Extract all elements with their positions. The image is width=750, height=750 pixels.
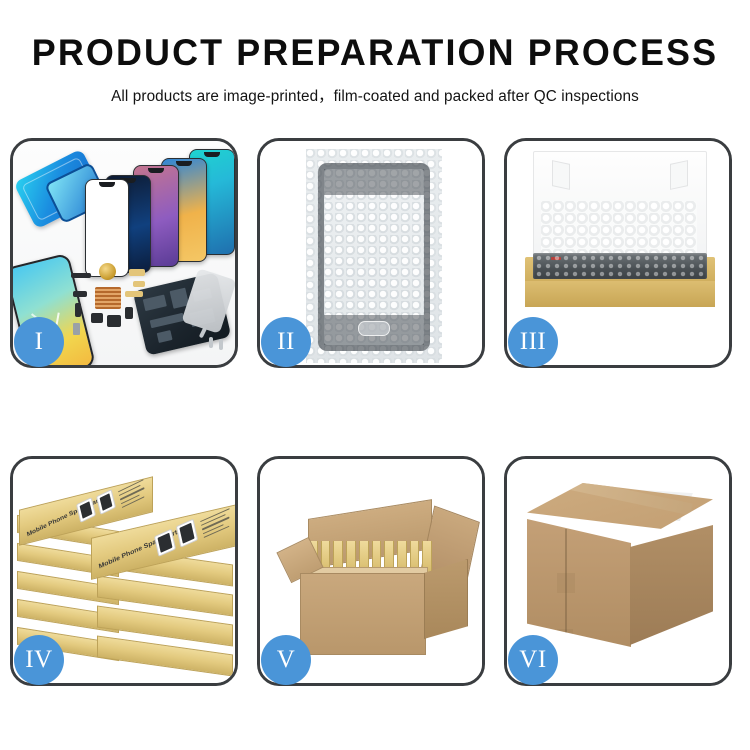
flex-cable-icon xyxy=(129,269,145,276)
step-panel-5: V xyxy=(257,456,485,686)
box-spec-lines xyxy=(200,507,235,540)
step-badge-6: VI xyxy=(508,635,558,685)
phone-display-fan xyxy=(85,149,235,269)
speaker-coil-icon xyxy=(99,263,116,280)
step-badge-2: II xyxy=(261,317,311,367)
lid-flap-right xyxy=(670,160,688,190)
label-sticker-icon xyxy=(551,257,561,260)
header: PRODUCT PREPARATION PROCESS All products… xyxy=(0,0,750,106)
step-badge-1: I xyxy=(14,317,64,367)
connector-bar-icon xyxy=(71,273,91,278)
page-title: PRODUCT PREPARATION PROCESS xyxy=(11,0,739,73)
screw-icon xyxy=(209,337,213,348)
screen-top-bezel xyxy=(324,169,424,195)
screw-icon xyxy=(219,339,223,350)
step-badge-3: III xyxy=(508,317,558,367)
flex-cable-small-icon xyxy=(133,281,145,287)
packing-tape-icon xyxy=(553,475,692,516)
box-art-screen xyxy=(96,489,116,515)
open-carton xyxy=(278,495,468,655)
step-panel-6: VI xyxy=(504,456,732,686)
wrapped-screen-icon xyxy=(318,163,430,351)
sealed-carton xyxy=(527,483,713,659)
home-button-icon xyxy=(358,321,390,336)
spare-parts-cluster xyxy=(71,261,181,355)
carton-tab xyxy=(557,573,575,593)
step-panel-4: Mobile Phone Spare Parts Mobile xyxy=(10,456,238,686)
step-panel-2: II xyxy=(257,138,485,368)
steps-grid: I II xyxy=(10,138,740,686)
camera-module-icon xyxy=(91,313,103,323)
step-badge-5: V xyxy=(261,635,311,685)
antenna-flex-icon xyxy=(125,291,143,297)
carton-left-face xyxy=(527,517,631,647)
carton-tab xyxy=(557,629,573,645)
copper-shield-icon xyxy=(95,287,121,309)
vibrator-icon xyxy=(125,307,133,319)
page-subtitle: All products are image-printed，film-coat… xyxy=(0,73,750,106)
speaker-module-icon xyxy=(107,315,121,327)
carton-right-face xyxy=(630,525,713,645)
packed-screen-icon xyxy=(533,253,707,279)
bubble-wrap-sheet xyxy=(306,149,442,363)
carton-side-face xyxy=(424,559,468,639)
carton-front-face xyxy=(300,573,426,655)
kraft-box-front-face xyxy=(525,281,715,307)
volume-flex-icon xyxy=(75,303,81,317)
foam-padding-icon xyxy=(541,201,697,259)
button-flex-icon xyxy=(73,291,87,297)
box-art-screen xyxy=(176,519,198,548)
step-panel-1: I xyxy=(10,138,238,368)
step-badge-4: IV xyxy=(14,635,64,685)
box-spec-lines xyxy=(118,478,150,510)
lid-flap-left xyxy=(552,160,570,190)
product-preparation-infographic: PRODUCT PREPARATION PROCESS All products… xyxy=(0,0,750,750)
step-panel-3: III xyxy=(504,138,732,368)
sim-tray-icon xyxy=(73,323,80,335)
